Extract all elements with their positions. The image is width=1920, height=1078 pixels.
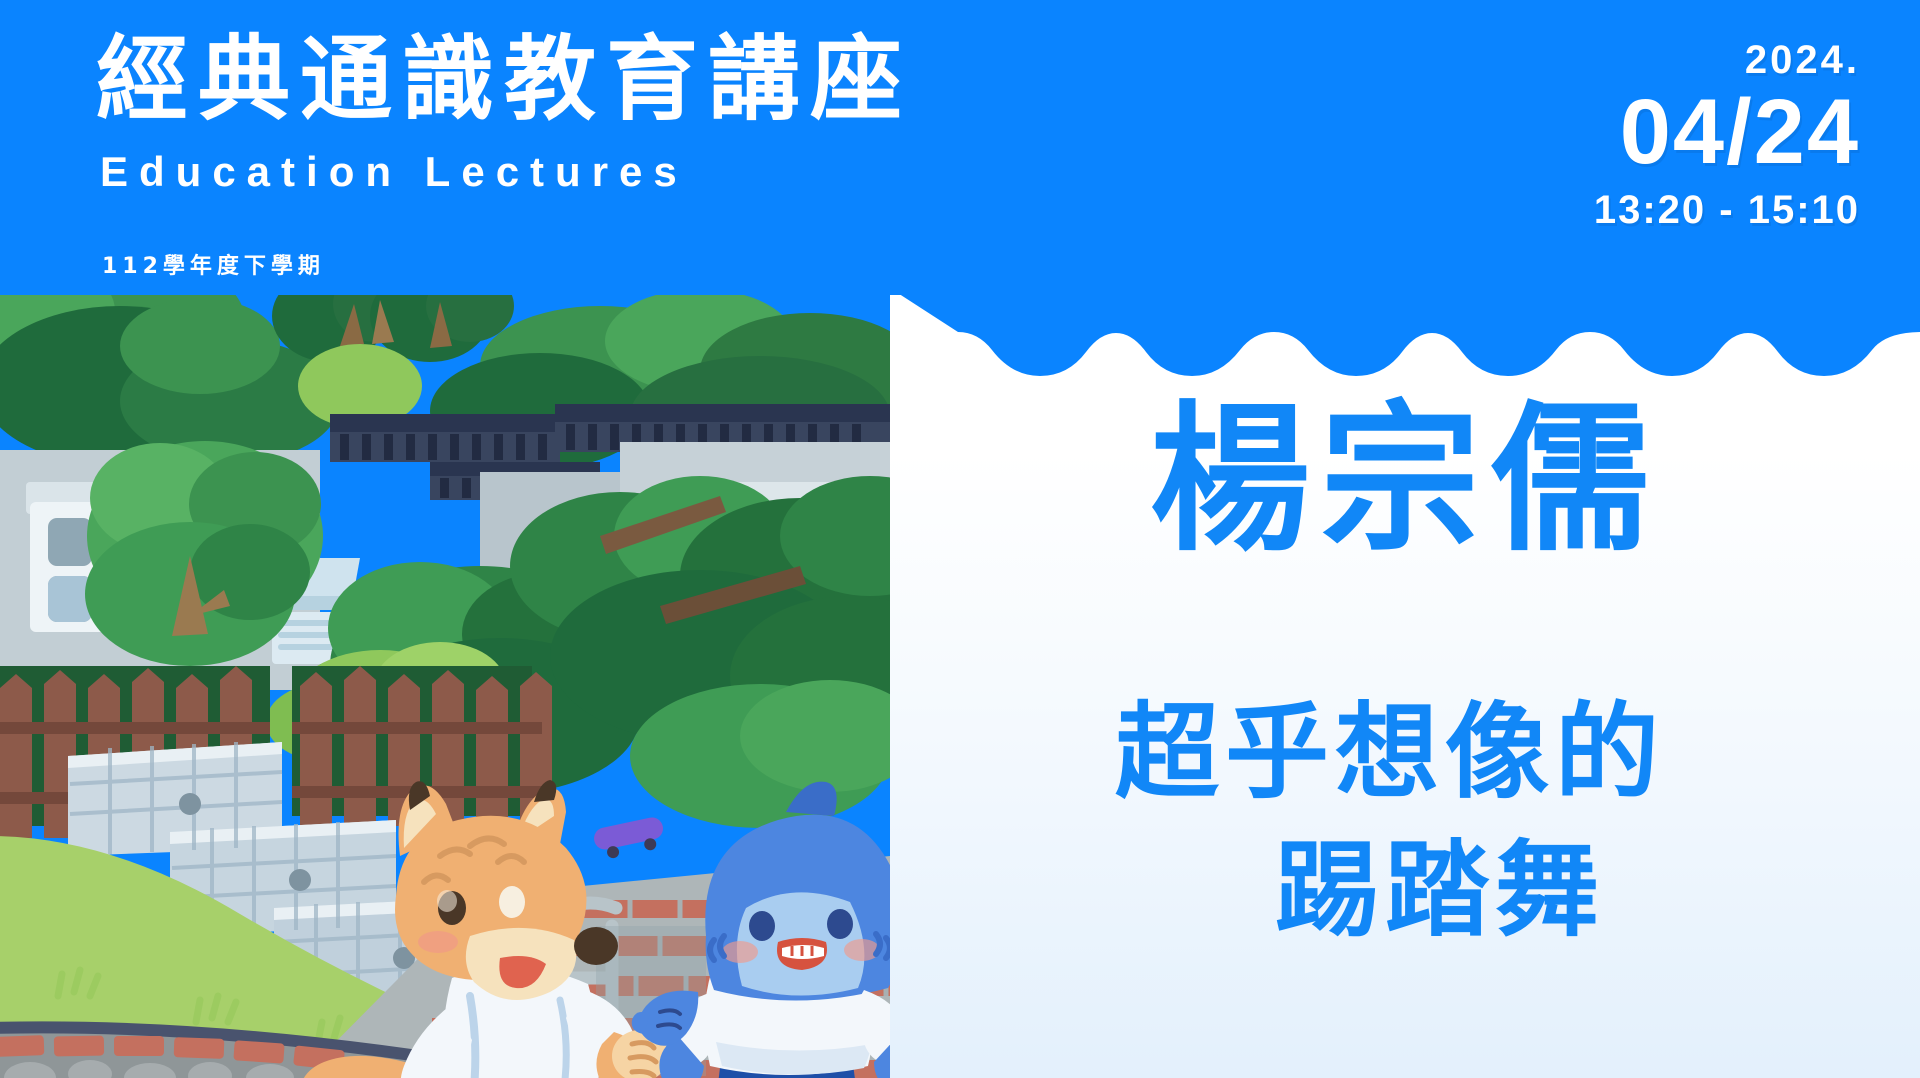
date-month-day: 04/24 (1594, 86, 1860, 178)
talk-title-line-1: 超乎想像的 (890, 700, 1890, 804)
lecture-poster: 經典通識教育講座 Education Lectures 112學年度下學期 20… (0, 0, 1920, 1078)
date-year: 2024. (1594, 40, 1860, 80)
semester-label: 112學年度下學期 (102, 248, 325, 280)
scene-illustration (0, 236, 890, 1078)
talk-title-line-2: 踢踏舞 (890, 838, 1920, 942)
date-block: 2024. 04/24 13:20 - 15:10 (1594, 40, 1860, 230)
page-title-en: Education Lectures (100, 148, 688, 196)
illustration-svg (0, 236, 890, 1078)
date-time-range: 13:20 - 15:10 (1594, 190, 1860, 230)
speaker-name: 楊宗儒 (890, 400, 1920, 560)
page-title-cn: 經典通識教育講座 (96, 30, 912, 129)
